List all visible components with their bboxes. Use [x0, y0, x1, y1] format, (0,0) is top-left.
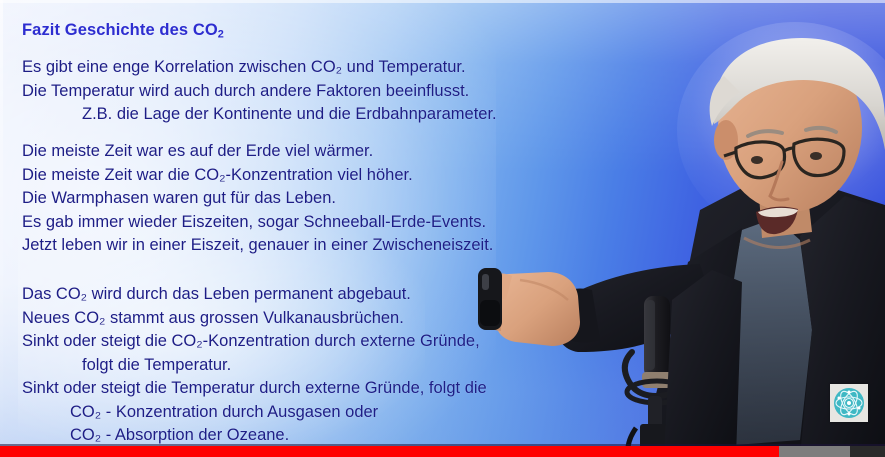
atom-emblem-icon: [833, 387, 865, 419]
channel-logo[interactable]: [830, 384, 868, 422]
slide-paragraph-3: Das CO₂ wird durch das Leben permanent a…: [22, 283, 487, 448]
slide-line: Es gibt eine enge Korrelation zwischen C…: [22, 56, 497, 80]
slide-line: Es gab immer wieder Eiszeiten, sogar Sch…: [22, 211, 493, 235]
slide-line: Die meiste Zeit war die CO₂-Konzentratio…: [22, 164, 493, 188]
video-progress-bar[interactable]: [0, 446, 885, 457]
slide-line: Sinkt oder steigt die Temperatur durch e…: [22, 377, 487, 401]
video-frame: Fazit Geschichte des CO2 Es gibt eine en…: [0, 0, 885, 457]
slide-paragraph-1: Es gibt eine enge Korrelation zwischen C…: [22, 56, 497, 127]
slide-line: Das CO₂ wird durch das Leben permanent a…: [22, 283, 487, 307]
slide-title: Fazit Geschichte des CO2: [22, 21, 224, 40]
progress-played: [0, 446, 779, 457]
slide-line: Die Temperatur wird auch durch andere Fa…: [22, 80, 497, 104]
slide-line: Die meiste Zeit war es auf der Erde viel…: [22, 140, 493, 164]
slide-line: CO₂ - Konzentration durch Ausgasen oder: [22, 401, 487, 425]
slide-line: Sinkt oder steigt die CO₂-Konzentration …: [22, 330, 487, 354]
slide-line: Jetzt leben wir in einer Eiszeit, genaue…: [22, 234, 493, 258]
slide-edge-top: [0, 0, 885, 3]
slide-title-text: Fazit Geschichte des CO: [22, 21, 218, 39]
slide-paragraph-2: Die meiste Zeit war es auf der Erde viel…: [22, 140, 493, 258]
slide-title-subscript: 2: [218, 28, 224, 40]
slide-line: folgt die Temperatur.: [22, 354, 487, 378]
slide-edge-left: [0, 0, 3, 457]
slide-line: Die Warmphasen waren gut für das Leben.: [22, 187, 493, 211]
slide-line: Neues CO₂ stammt aus grossen Vulkanausbr…: [22, 307, 487, 331]
slide-line: Z.B. die Lage der Kontinente und die Erd…: [22, 103, 497, 127]
